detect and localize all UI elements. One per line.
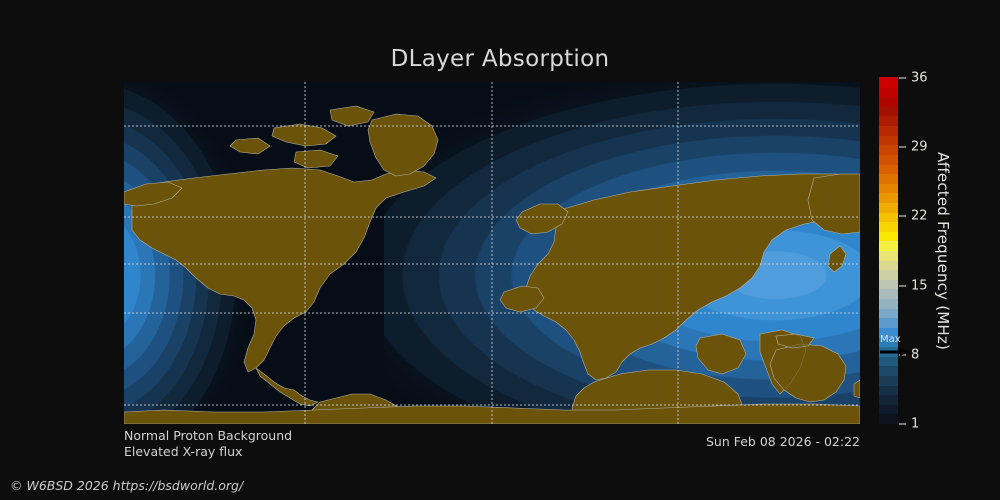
world-map[interactable] — [124, 82, 860, 424]
colorbar — [879, 78, 898, 424]
colorbar-segment — [879, 241, 898, 251]
colorbar-segment — [879, 77, 898, 87]
map-inner — [124, 82, 860, 424]
colorbar-segment — [879, 270, 898, 280]
colorbar-segment — [879, 87, 898, 97]
map-canvas — [124, 82, 860, 424]
colorbar-segment — [879, 375, 898, 385]
colorbar-segment — [879, 125, 898, 135]
footer-credit: © W6BSD 2026 https://bsdworld.org/ — [10, 478, 243, 493]
max-marker: Max — [880, 337, 914, 361]
tick-dash-icon — [899, 424, 906, 425]
colorbar-segment — [879, 366, 898, 376]
tick-label: 36 — [911, 72, 928, 85]
colorbar-segment — [879, 145, 898, 155]
status-line-1: Normal Proton Background — [124, 428, 292, 444]
status-line-2: Elevated X-ray flux — [124, 444, 292, 460]
colorbar-segment — [879, 231, 898, 241]
colorbar-segment — [879, 318, 898, 328]
status-captions: Normal Proton Background Elevated X-ray … — [124, 428, 292, 460]
colorbar-segment — [879, 250, 898, 260]
colorbar-tick: 22 — [899, 210, 928, 223]
colorbar-tick: 36 — [899, 72, 928, 85]
colorbar-segment — [879, 308, 898, 318]
colorbar-tick: 29 — [899, 141, 928, 154]
tick-dash-icon — [899, 147, 906, 148]
colorbar-segment — [879, 97, 898, 107]
colorbar-segment — [879, 289, 898, 299]
colorbar-title: Affected Frequency (MHz) — [931, 78, 955, 424]
tick-dash-icon — [899, 216, 906, 217]
max-marker-label: Max — [880, 335, 901, 345]
colorbar-segment — [879, 116, 898, 126]
max-arrow-icon — [880, 348, 910, 356]
tick-label: 29 — [911, 141, 928, 154]
tick-label: 22 — [911, 210, 928, 223]
colorbar-segment — [879, 414, 898, 424]
colorbar-segment — [879, 212, 898, 222]
tick-label: 15 — [911, 279, 928, 292]
colorbar-segment — [879, 279, 898, 289]
tick-label: 1 — [911, 418, 919, 431]
colorbar-segment — [879, 260, 898, 270]
colorbar-segment — [879, 154, 898, 164]
colorbar-segment — [879, 183, 898, 193]
colorbar-segment — [879, 222, 898, 232]
page-title: DLayer Absorption — [0, 46, 1000, 72]
colorbar-segment — [879, 202, 898, 212]
colorbar-segment — [879, 164, 898, 174]
colorbar-segment — [879, 174, 898, 184]
colorbar-segment — [879, 385, 898, 395]
colorbar-segment — [879, 106, 898, 116]
tick-dash-icon — [899, 78, 906, 79]
colorbar-segment — [879, 193, 898, 203]
page-root: DLayer Absorption — [0, 0, 1000, 500]
colorbar-tick: 15 — [899, 279, 928, 292]
colorbar-segment — [879, 395, 898, 405]
colorbar-tick: 1 — [899, 418, 919, 431]
tick-dash-icon — [899, 285, 906, 286]
colorbar-segment — [879, 135, 898, 145]
colorbar-gradient — [879, 78, 898, 424]
colorbar-segment — [879, 298, 898, 308]
timestamp: Sun Feb 08 2026 - 02:22 — [560, 434, 860, 450]
colorbar-segment — [879, 404, 898, 414]
